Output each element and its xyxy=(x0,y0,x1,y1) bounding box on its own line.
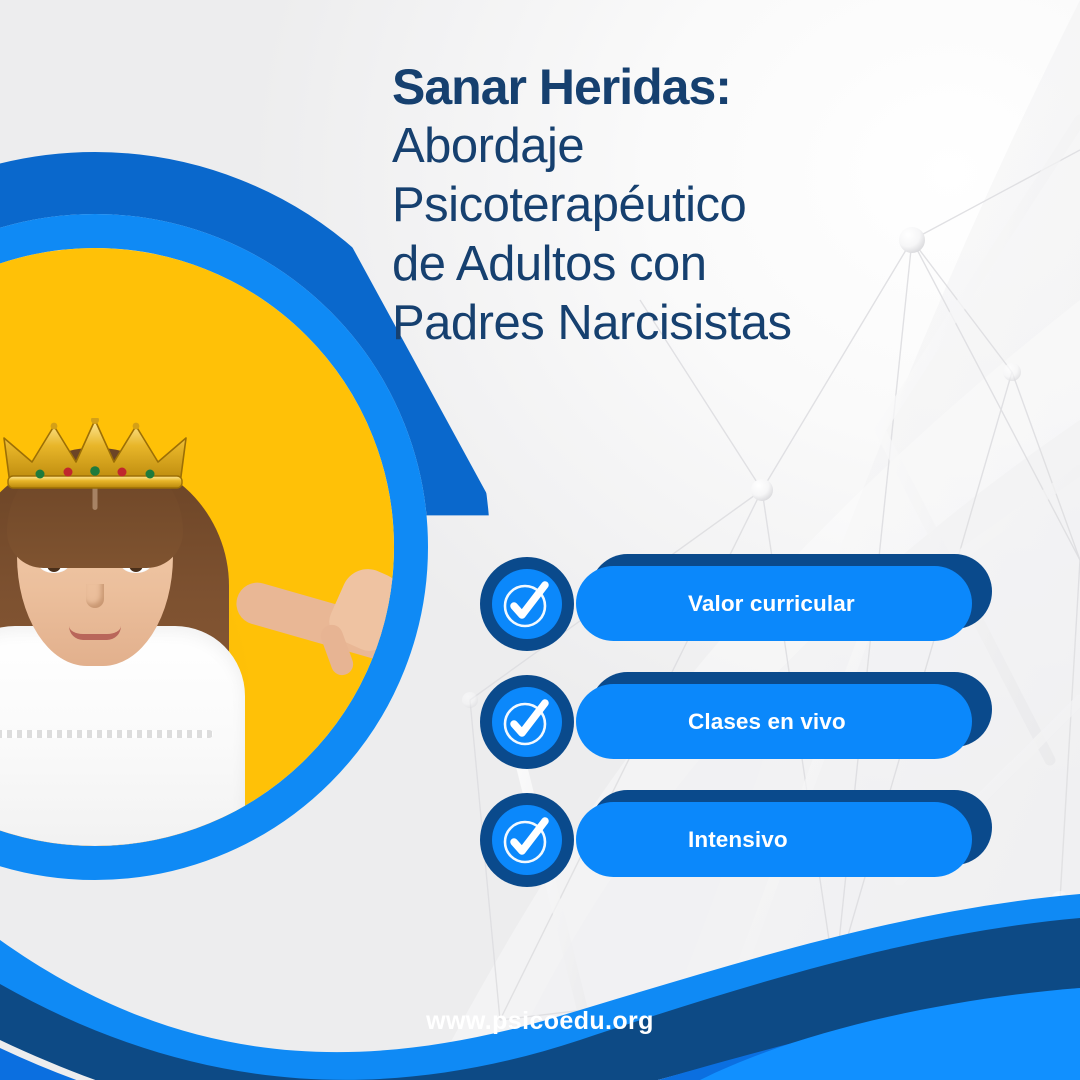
feature-item-clases-en-vivo[interactable]: Clases en vivo xyxy=(480,684,990,759)
feature-label: Clases en vivo xyxy=(688,709,846,735)
title-line-4: de Adultos con xyxy=(392,235,952,294)
feature-list: Valor curricular Clases en vivo xyxy=(480,566,990,920)
check-circle-icon xyxy=(480,557,574,651)
feature-item-intensivo[interactable]: Intensivo xyxy=(480,802,990,877)
crown-icon xyxy=(0,418,190,490)
feature-label: Intensivo xyxy=(688,827,788,853)
check-circle-icon xyxy=(480,793,574,887)
title-line-1: Sanar Heridas: xyxy=(392,58,952,117)
check-circle-icon xyxy=(480,675,574,769)
title-line-2: Abordaje xyxy=(392,117,952,176)
poster-canvas: Sanar Heridas: Abordaje Psicoterapéutico… xyxy=(0,0,1080,1080)
feature-item-valor-curricular[interactable]: Valor curricular xyxy=(480,566,990,641)
poster-title: Sanar Heridas: Abordaje Psicoterapéutico… xyxy=(392,58,952,353)
pill-background: Valor curricular xyxy=(576,566,972,641)
title-line-3: Psicoterapéutico xyxy=(392,176,952,235)
title-line-5: Padres Narcisistas xyxy=(392,294,952,353)
pill-background: Intensivo xyxy=(576,802,972,877)
feature-label: Valor curricular xyxy=(688,591,855,617)
bottom-wave-decoration xyxy=(0,880,1080,1080)
pill-background: Clases en vivo xyxy=(576,684,972,759)
footer-website-url[interactable]: www.psicoedu.org xyxy=(0,1007,1080,1036)
